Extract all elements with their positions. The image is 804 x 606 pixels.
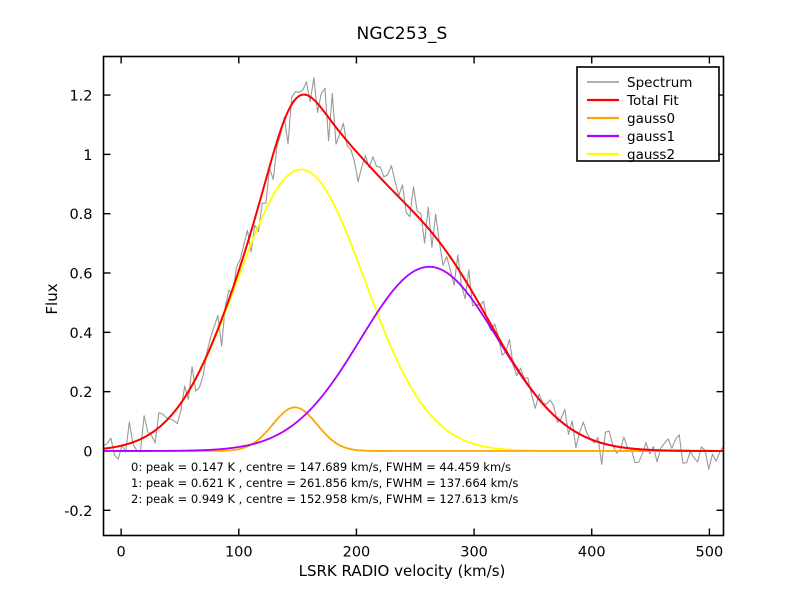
annotation-line: 0: peak = 0.147 K , centre = 147.689 km/… [131,460,511,474]
series-gauss0 [104,407,724,451]
legend-label-gauss2: gauss2 [627,147,675,163]
y-tick-label: 0 [83,444,92,460]
x-tick-label: 100 [225,545,253,561]
page-title: NGC253_S [0,24,804,44]
y-tick-label: 0.2 [69,385,92,401]
series-gauss1 [104,267,724,451]
x-axis-label: LSRK RADIO velocity (km/s) [0,562,804,580]
legend-label-spectrum: Spectrum [627,75,692,91]
legend[interactable]: SpectrumTotal Fitgauss0gauss1gauss2 [577,67,719,163]
y-tick-label: 0.4 [69,326,92,342]
y-tick-label: 0.8 [69,207,92,223]
annotation-line: 1: peak = 0.621 K , centre = 261.856 km/… [131,476,518,490]
y-axis-label: Flux [43,239,61,359]
fit-parameter-annotations: 0: peak = 0.147 K , centre = 147.689 km/… [131,460,518,506]
x-tick-label: 300 [460,545,488,561]
figure-canvas: NGC253_S LSRK RADIO velocity (km/s) Flux… [0,0,804,606]
x-tick-label: 500 [696,545,724,561]
x-tick-label: 0 [117,545,126,561]
y-tick-label: -0.2 [64,504,92,520]
legend-label-gauss0: gauss0 [627,111,675,127]
legend-label-total-fit: Total Fit [626,93,679,109]
x-tick-label: 400 [578,545,606,561]
y-tick-label: 1.2 [69,89,92,105]
y-tick-label: 0.6 [69,267,92,283]
plot-area: 0100200300400500-0.200.20.40.60.811.2 0:… [0,0,804,606]
x-tick-label: 200 [343,545,371,561]
legend-label-gauss1: gauss1 [627,129,675,145]
y-tick-label: 1 [83,148,92,164]
annotation-line: 2: peak = 0.949 K , centre = 152.958 km/… [131,492,518,506]
